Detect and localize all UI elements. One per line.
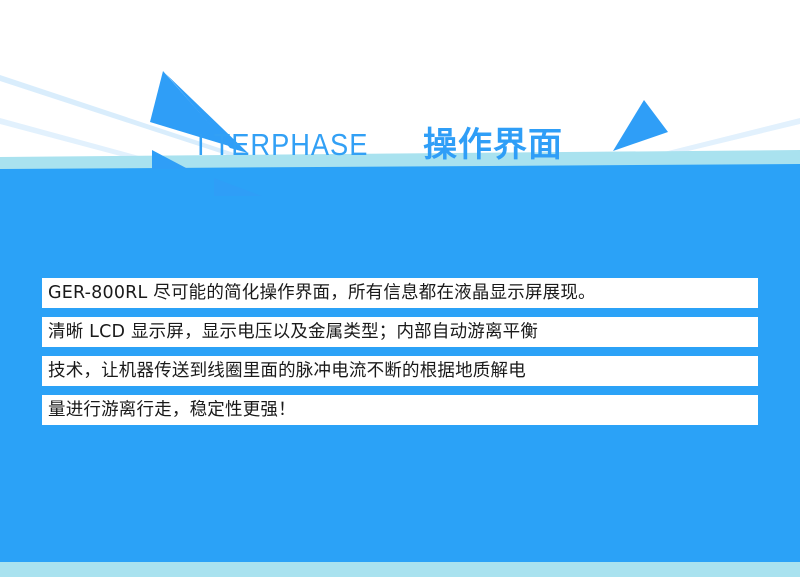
- description-line-text: 量进行游离行走，稳定性更强！: [48, 395, 296, 425]
- description-line: 量进行游离行走，稳定性更强！: [42, 395, 758, 425]
- description-block: GER-800RL 尽可能的简化操作界面，所有信息都在液晶显示屏展现。 清晰 L…: [42, 278, 758, 425]
- description-line-text: 清晰 LCD 显示屏，显示电压以及金属类型；内部自动游离平衡: [48, 317, 538, 347]
- promo-banner-page: I TERPHASE 操作界面 GER-800RL 尽可能的简化操作界面，所有信…: [0, 0, 800, 577]
- description-line-text: 技术，让机器传送到线圈里面的脉冲电流不断的根据地质解电: [48, 356, 526, 386]
- description-line-text: GER-800RL 尽可能的简化操作界面，所有信息都在液晶显示屏展现。: [48, 278, 596, 308]
- footer-cyan-strip: [0, 562, 800, 577]
- description-line: GER-800RL 尽可能的简化操作界面，所有信息都在液晶显示屏展现。: [42, 278, 758, 308]
- description-line: 技术，让机器传送到线圈里面的脉冲电流不断的根据地质解电: [42, 356, 758, 386]
- description-line: 清晰 LCD 显示屏，显示电压以及金属类型；内部自动游离平衡: [42, 317, 758, 347]
